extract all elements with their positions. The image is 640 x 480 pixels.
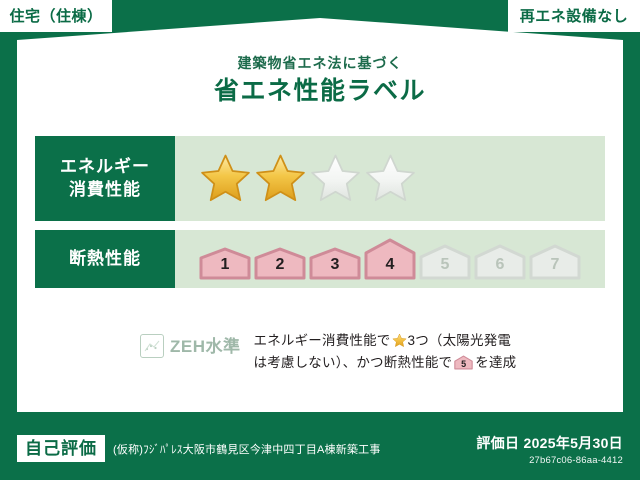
star-filled-icon: [199, 152, 252, 205]
evaluation-date-label: 評価日: [476, 435, 519, 451]
insulation-level-badge: 4: [364, 238, 416, 280]
energy-performance-value: [175, 136, 605, 221]
star-inline-icon: [392, 333, 407, 348]
performance-rows: エネルギー 消費性能 断熱性能 1234567: [35, 136, 605, 297]
insulation-level-badge: 6: [474, 244, 526, 280]
star-filled-icon: [254, 152, 307, 205]
zeh-note: ZEH水準 エネルギー消費性能で3つ（太陽光発電 は考慮しない）、かつ断熱性能で…: [35, 330, 605, 374]
footer: 自己評価 (仮称)ﾌｼﾞﾊﾟﾚｽ大阪市鶴見区今津中四丁目A棟新築工事 評価日 2…: [0, 412, 640, 480]
insulation-level-number: 3: [309, 257, 361, 273]
star-empty-icon: [309, 152, 362, 205]
insulation-level-badge: 3: [309, 247, 361, 280]
star-rating: [199, 152, 417, 205]
insulation-level-number: 2: [254, 257, 306, 273]
zeh-label: ZEH水準: [170, 338, 241, 355]
insulation-level-badge: 2: [254, 247, 306, 280]
note-line1-b: 3つ（太陽光発電: [408, 333, 512, 348]
self-evaluation-badge: 自己評価: [17, 435, 105, 462]
insulation-badge-inline-number: 5: [454, 360, 473, 369]
note-line2-a: は考慮しない）、かつ断熱性能で: [254, 355, 453, 370]
energy-performance-row: エネルギー 消費性能: [35, 136, 605, 221]
insulation-performance-key: 断熱性能: [35, 230, 175, 288]
title-subtitle: 建築物省エネ法に基づく: [0, 56, 640, 70]
note-line2-b: を達成: [475, 355, 516, 370]
note-line1-a: エネルギー消費性能で: [254, 333, 391, 348]
star-empty-icon: [364, 152, 417, 205]
insulation-key-label: 断熱性能: [69, 248, 141, 271]
energy-performance-label: 住宅（住棟） 再エネ設備なし 建築物省エネ法に基づく 省エネ性能ラベル エネルギ…: [0, 0, 640, 480]
zeh-note-text: エネルギー消費性能で3つ（太陽光発電 は考慮しない）、かつ断熱性能で5を達成: [241, 330, 606, 374]
insulation-level-number: 4: [364, 257, 416, 273]
page-title: 省エネ性能ラベル: [0, 79, 640, 104]
footer-left: 自己評価 (仮称)ﾌｼﾞﾊﾟﾚｽ大阪市鶴見区今津中四丁目A棟新築工事: [17, 435, 381, 462]
evaluation-id: 27b67c06-86aa-4412: [476, 455, 623, 466]
insulation-level-number: 7: [529, 257, 581, 273]
insulation-level-badge: 7: [529, 244, 581, 280]
building-type-tag: 住宅（住棟）: [0, 0, 112, 32]
title-block: 建築物省エネ法に基づく 省エネ性能ラベル: [0, 56, 640, 104]
insulation-performance-row: 断熱性能 1234567: [35, 230, 605, 288]
energy-performance-key: エネルギー 消費性能: [35, 136, 175, 221]
energy-key-line1: エネルギー: [60, 156, 150, 179]
insulation-badge-inline: 5: [454, 355, 473, 370]
energy-key-line2: 消費性能: [69, 179, 141, 202]
insulation-level-badge: 1: [199, 247, 251, 280]
project-name: (仮称)ﾌｼﾞﾊﾟﾚｽ大阪市鶴見区今津中四丁目A棟新築工事: [113, 441, 381, 457]
zeh-icon: [140, 334, 164, 358]
insulation-level-badge: 5: [419, 244, 471, 280]
zeh-standard-mark: ZEH水準: [35, 330, 241, 358]
insulation-level-number: 1: [199, 257, 251, 273]
insulation-performance-value: 1234567: [175, 230, 605, 288]
renewable-equipment-tag: 再エネ設備なし: [508, 0, 640, 32]
evaluation-date: 評価日 2025年5月30日: [476, 435, 623, 452]
insulation-level-number: 6: [474, 257, 526, 273]
insulation-level-number: 5: [419, 257, 471, 273]
evaluation-date-value: 2025年5月30日: [523, 435, 623, 451]
insulation-level-scale: 1234567: [199, 238, 581, 280]
footer-right: 評価日 2025年5月30日 27b67c06-86aa-4412: [476, 435, 623, 466]
